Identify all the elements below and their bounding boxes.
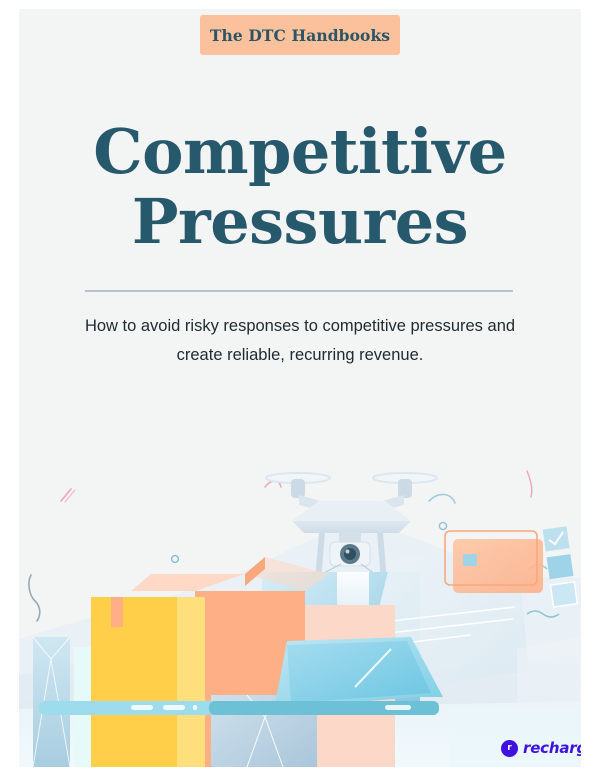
yellow-box (91, 597, 205, 767)
recharge-logo-icon: r (501, 740, 518, 757)
recharge-logo-icon-glyph: r (507, 744, 511, 753)
recharge-wordmark: recharge (523, 739, 581, 757)
cover-page: The DTC Handbooks Competitive Pressures … (19, 9, 581, 767)
title-divider (85, 290, 513, 292)
credit-card (445, 531, 543, 593)
page-title: Competitive Pressures (19, 117, 581, 257)
recharge-logo: r recharge (501, 739, 581, 757)
page-title-line-2: Pressures (19, 187, 581, 257)
handbook-series-badge: The DTC Handbooks (200, 15, 400, 55)
handbook-series-badge-label: The DTC Handbooks (210, 26, 390, 45)
page-subtitle: How to avoid risky responses to competit… (75, 312, 525, 370)
page-title-line-1: Competitive (19, 117, 581, 187)
cover-illustration (19, 409, 581, 767)
